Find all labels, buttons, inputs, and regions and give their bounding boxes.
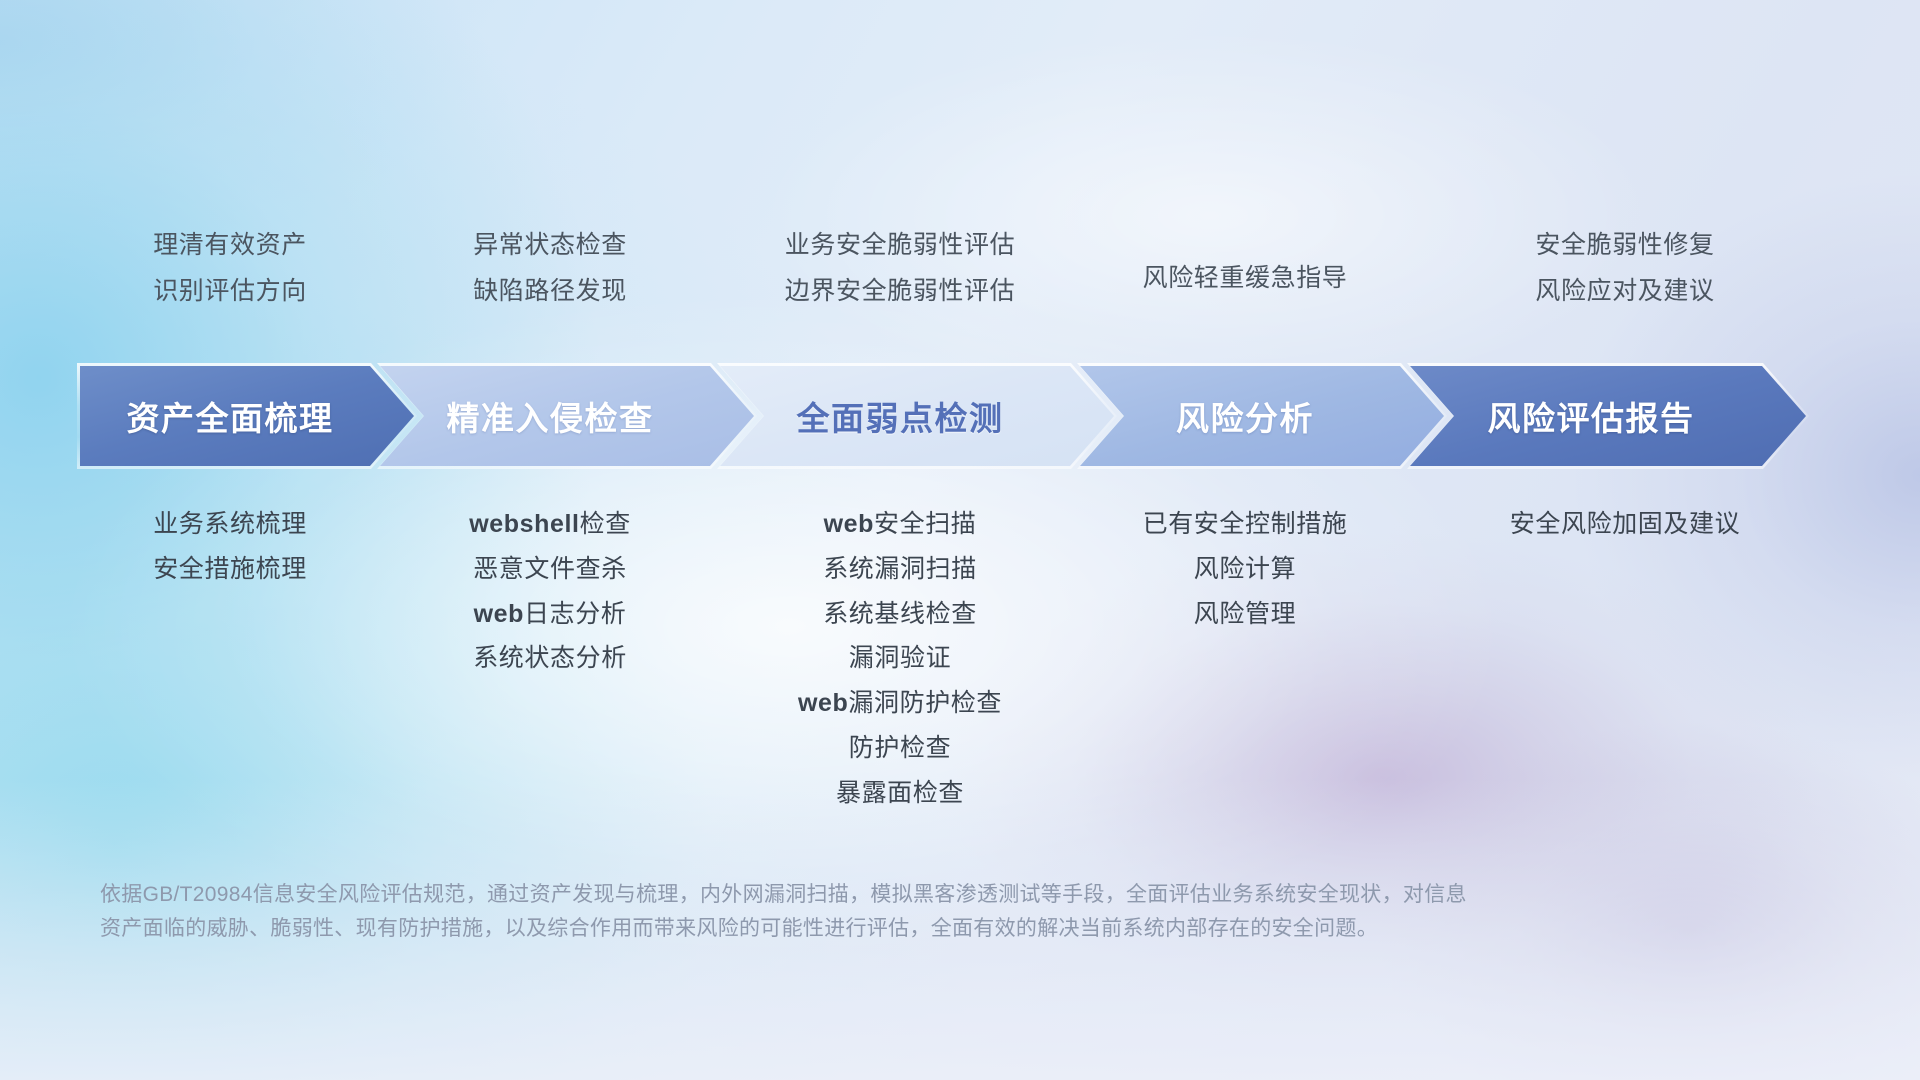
process-stage-risk-report[interactable]: 风险评估报告 <box>1410 366 1806 466</box>
output-item: 防护检查 <box>849 734 951 763</box>
input-item: 业务安全脆弱性评估 <box>785 232 1015 260</box>
output-item: 暴露面检查 <box>836 779 964 808</box>
input-item: 异常状态检查 <box>473 232 627 260</box>
stage-outputs-risk-report: 安全风险加固及建议 <box>1410 510 1840 807</box>
process-stage-risk-analysis[interactable]: 风险分析 <box>1080 366 1444 466</box>
process-stage-label: 全面弱点检测 <box>720 392 1114 440</box>
stage-outputs-intrusion-check: webshell检查 恶意文件查杀 web日志分析 系统状态分析 <box>380 510 720 807</box>
output-item: web安全扫描 <box>824 510 977 539</box>
output-item: web漏洞防护检查 <box>798 689 1002 718</box>
input-item: 安全脆弱性修复 <box>1535 232 1714 260</box>
input-item: 理清有效资产 <box>153 232 307 260</box>
process-stage-intrusion-check[interactable]: 精准入侵检查 <box>380 366 754 466</box>
stage-outputs-row: 业务系统梳理 安全措施梳理 webshell检查 恶意文件查杀 web日志分析 … <box>80 510 1840 807</box>
latin-run: web <box>798 689 848 717</box>
latin-run: webshell <box>469 510 579 538</box>
input-item: 边界安全脆弱性评估 <box>785 278 1015 306</box>
process-stage-label: 资产全面梳理 <box>80 392 414 440</box>
output-item: 风险计算 <box>1194 555 1296 584</box>
latin-run: web <box>474 600 524 628</box>
description-line-1: 依据GB/T20984信息安全风险评估规范，通过资产发现与梳理，内外网漏洞扫描，… <box>100 878 1620 912</box>
stage-inputs-weakness-detection: 业务安全脆弱性评估 边界安全脆弱性评估 <box>720 232 1080 305</box>
stage-outputs-risk-analysis: 已有安全控制措施 风险计算 风险管理 <box>1080 510 1410 807</box>
stage-outputs-weakness-detection: web安全扫描 系统漏洞扫描 系统基线检查 漏洞验证 web漏洞防护检查 防护检… <box>720 510 1080 807</box>
latin-run: web <box>824 510 874 538</box>
output-item: 系统状态分析 <box>473 644 627 673</box>
output-item: 系统漏洞扫描 <box>823 555 977 584</box>
output-item: 系统基线检查 <box>823 600 977 629</box>
input-item: 风险轻重缓急指导 <box>1143 265 1348 293</box>
process-stage-label: 风险分析 <box>1080 392 1444 440</box>
output-item: webshell检查 <box>469 510 631 539</box>
output-item: 业务系统梳理 <box>153 510 307 539</box>
process-stage-asset-inventory[interactable]: 资产全面梳理 <box>80 366 414 466</box>
process-stage-label: 风险评估报告 <box>1410 392 1806 440</box>
input-item: 风险应对及建议 <box>1535 278 1714 306</box>
output-item: web日志分析 <box>474 600 627 629</box>
output-item: 安全措施梳理 <box>153 555 307 584</box>
input-item: 缺陷路径发现 <box>473 278 627 306</box>
output-item: 已有安全控制措施 <box>1143 510 1348 539</box>
output-item: 风险管理 <box>1194 600 1296 629</box>
stage-outputs-asset-inventory: 业务系统梳理 安全措施梳理 <box>80 510 380 807</box>
slide-canvas: 理清有效资产 识别评估方向 异常状态检查 缺陷路径发现 业务安全脆弱性评估 边界… <box>0 0 1920 1080</box>
output-item: 恶意文件查杀 <box>473 555 627 584</box>
stage-inputs-risk-analysis: 风险轻重缓急指导 <box>1080 232 1410 305</box>
description-line-2: 资产面临的威胁、脆弱性、现有防护措施，以及综合作用而带来风险的可能性进行评估，全… <box>100 912 1620 946</box>
input-item: 识别评估方向 <box>153 278 307 306</box>
stage-inputs-row: 理清有效资产 识别评估方向 异常状态检查 缺陷路径发现 业务安全脆弱性评估 边界… <box>80 232 1840 305</box>
stage-inputs-risk-report: 安全脆弱性修复 风险应对及建议 <box>1410 232 1840 305</box>
description-paragraph: 依据GB/T20984信息安全风险评估规范，通过资产发现与梳理，内外网漏洞扫描，… <box>100 878 1620 946</box>
output-item: 漏洞验证 <box>849 644 951 673</box>
output-item: 安全风险加固及建议 <box>1510 510 1740 539</box>
stage-inputs-asset-inventory: 理清有效资产 识别评估方向 <box>80 232 380 305</box>
process-stage-weakness-detection[interactable]: 全面弱点检测 <box>720 366 1114 466</box>
process-stage-label: 精准入侵检查 <box>380 392 754 440</box>
process-chevron-band: 资产全面梳理 精准入侵检查 全面弱点检测 风险分析 风险评估报告 <box>80 366 1840 466</box>
stage-inputs-intrusion-check: 异常状态检查 缺陷路径发现 <box>380 232 720 305</box>
